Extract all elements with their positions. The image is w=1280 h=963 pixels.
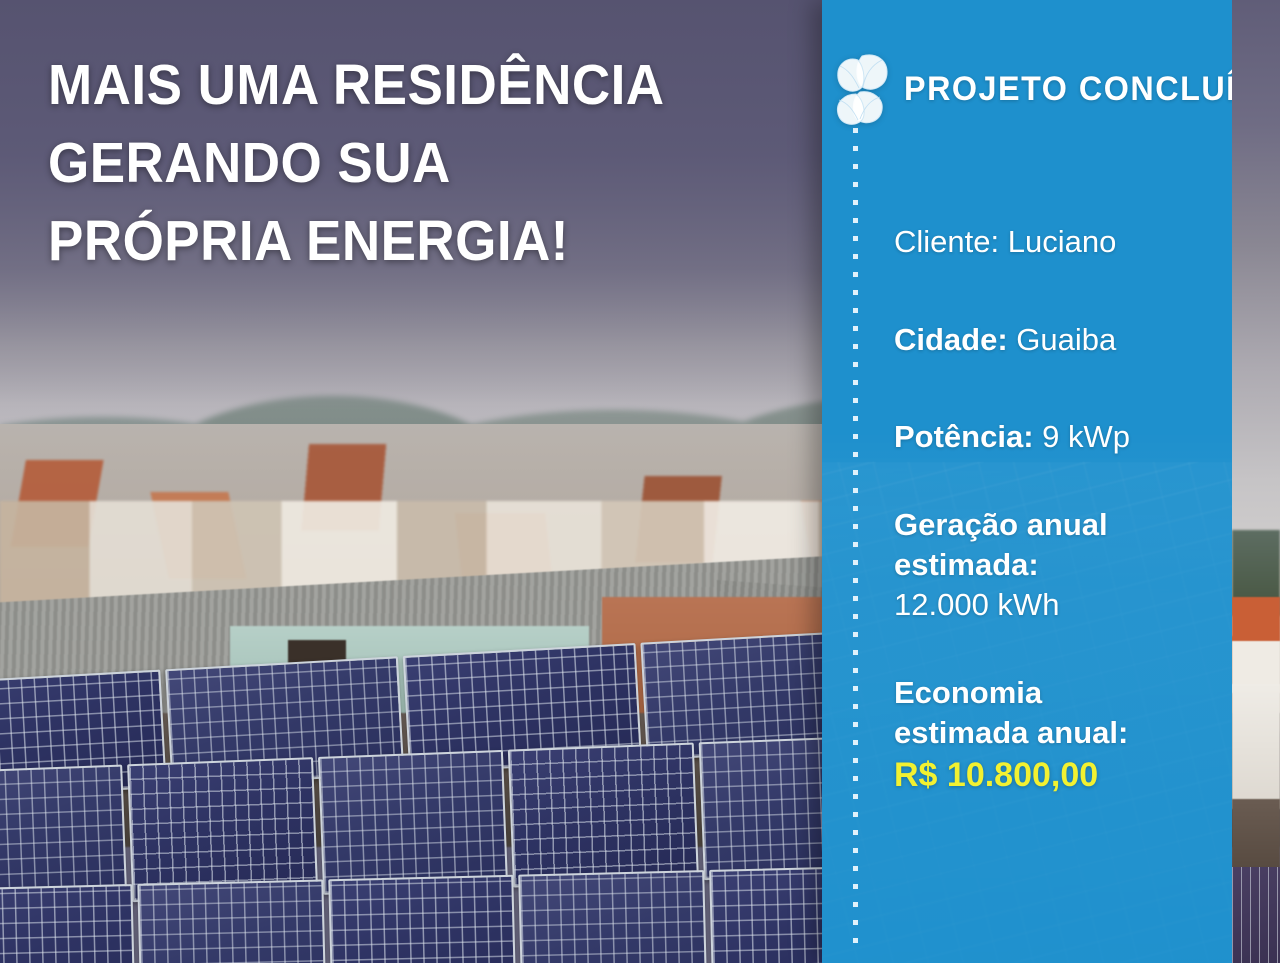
cliente-label: Cliente: xyxy=(894,224,999,259)
panel-title: PROJETO CONCLUÍDO xyxy=(904,70,1232,109)
edge-wall xyxy=(1232,684,1280,809)
spacer xyxy=(894,262,1224,320)
cidade-value: Guaiba xyxy=(1008,322,1117,357)
detail-row-potencia: Potência: 9 kWp xyxy=(894,417,1224,457)
headline-line-1: MAIS UMA RESIDÊNCIA xyxy=(48,46,699,124)
economia-label-line2: estimada anual: xyxy=(894,713,1224,753)
economia-value: R$ 10.800,00 xyxy=(894,753,1224,797)
cliente-value: Luciano xyxy=(999,224,1116,259)
spacer xyxy=(894,457,1224,505)
headline-line-2: GERANDO SUA xyxy=(48,124,699,202)
economia-label-line1: Economia xyxy=(894,673,1224,713)
project-info-panel: PROJETO CONCLUÍDO Cliente: Luciano Cidad… xyxy=(822,0,1232,963)
edge-roof xyxy=(1232,597,1280,693)
leaf-cluster-icon xyxy=(832,48,890,130)
potencia-label: Potência: xyxy=(894,419,1034,454)
dotted-divider xyxy=(853,128,858,948)
geracao-label-line1: Geração anual xyxy=(894,505,1224,545)
detail-row-cliente: Cliente: Luciano xyxy=(894,222,1224,262)
edge-solar-panels xyxy=(1232,867,1280,963)
geracao-value: 12.000 kWh xyxy=(894,585,1224,625)
edge-sky xyxy=(1232,0,1280,559)
solar-project-poster: MAIS UMA RESIDÊNCIA GERANDO SUA PRÓPRIA … xyxy=(0,0,1280,963)
detail-row-geracao: Geração anual estimada: 12.000 kWh xyxy=(894,505,1224,625)
edge-ground xyxy=(1232,799,1280,876)
cidade-label: Cidade: xyxy=(894,322,1008,357)
headline-line-3: PRÓPRIA ENERGIA! xyxy=(48,202,699,280)
project-details-list: Cliente: Luciano Cidade: Guaiba Potência… xyxy=(894,222,1224,797)
panel-header: PROJETO CONCLUÍDO xyxy=(822,48,1232,130)
potencia-value: 9 kWp xyxy=(1034,419,1130,454)
spacer xyxy=(894,625,1224,673)
spacer xyxy=(894,360,1224,417)
detail-row-economia: Economia estimada anual: R$ 10.800,00 xyxy=(894,673,1224,797)
geracao-label-line2: estimada: xyxy=(894,545,1224,585)
page-title: MAIS UMA RESIDÊNCIA GERANDO SUA PRÓPRIA … xyxy=(48,46,699,280)
detail-row-cidade: Cidade: Guaiba xyxy=(894,320,1224,360)
right-edge-photo-strip xyxy=(1232,0,1280,963)
